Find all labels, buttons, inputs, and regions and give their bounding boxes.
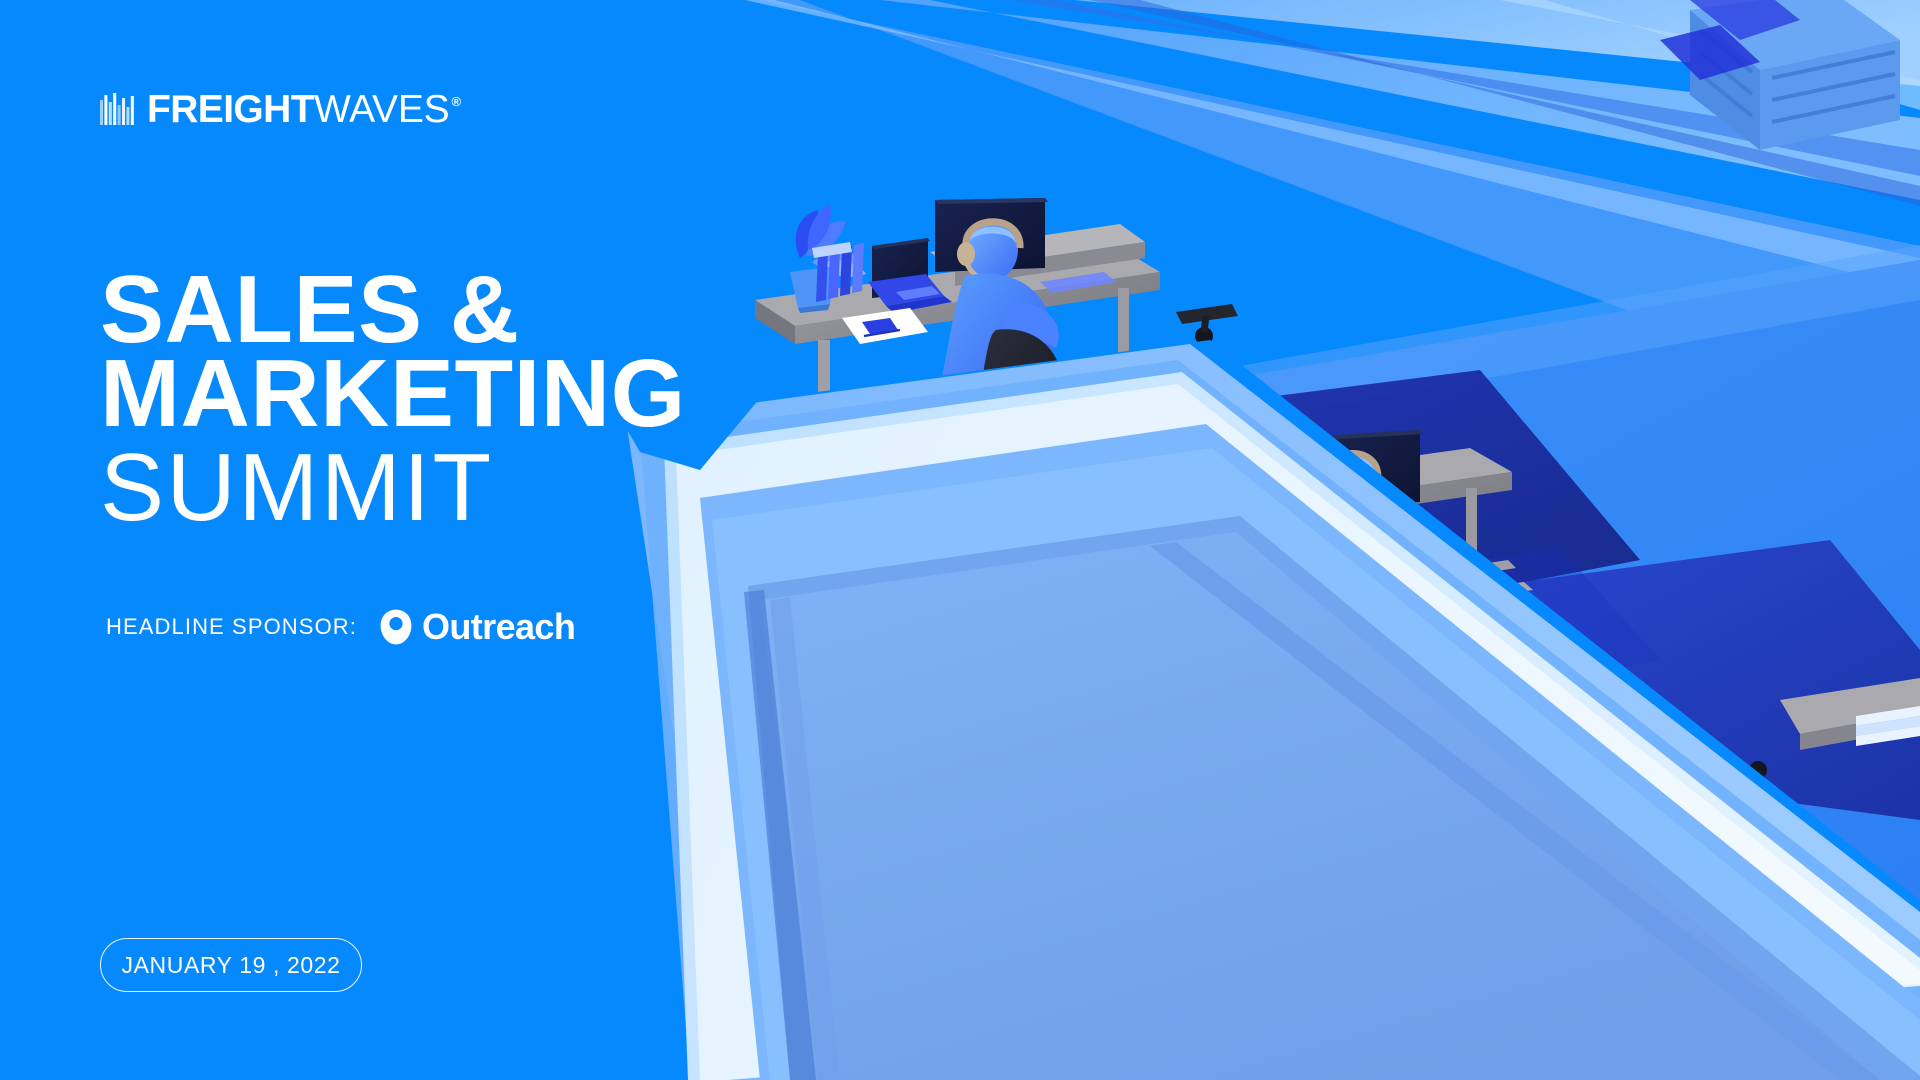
headline-line-1: SALES &	[100, 268, 686, 352]
office-chair-distant	[1176, 304, 1238, 345]
monitor-lower-large	[1192, 418, 1315, 527]
paper-stack	[1856, 706, 1920, 746]
outreach-logo[interactable]: Outreach	[379, 608, 575, 646]
desk-lower	[1100, 448, 1660, 730]
ceiling-beams	[745, 0, 1920, 420]
logo-text-bold: FREIGHT	[147, 90, 314, 129]
keyboard-upper	[1040, 272, 1116, 293]
desk-far-right	[1749, 678, 1920, 779]
event-banner: FREIGHTWAVES® SALES & MARKETING SUMMIT H…	[0, 0, 1920, 1080]
headline-line-3: SUMMIT	[100, 439, 686, 537]
event-date-text: JANUARY 19 , 2022	[121, 952, 340, 979]
monitor-lower-small	[1322, 430, 1423, 510]
logo-text-light: WAVES	[314, 90, 450, 129]
event-date-badge[interactable]: JANUARY 19 , 2022	[100, 938, 362, 992]
logo-trademark: ®	[452, 94, 461, 109]
laptop-lower	[1258, 462, 1368, 511]
office-chair-lower	[1285, 557, 1424, 769]
headline-line-2: MARKETING	[100, 352, 686, 436]
monitor-upper-large	[935, 198, 1048, 290]
banner-content: FREIGHTWAVES® SALES & MARKETING SUMMIT H…	[100, 0, 920, 1080]
outreach-pin-icon	[379, 608, 413, 646]
headline-sponsor: HEADLINE SPONSOR: Outreach	[106, 608, 575, 646]
office-chair-upper	[923, 329, 1064, 541]
coffee-cup	[1206, 527, 1242, 569]
pen-cup	[1138, 452, 1182, 529]
worker-lower-with-headset	[1241, 451, 1419, 738]
sponsor-label: HEADLINE SPONSOR:	[106, 614, 357, 640]
air-vent	[1660, 0, 1900, 150]
keyboard-lower	[1330, 492, 1412, 513]
freightwaves-logo[interactable]: FREIGHTWAVES®	[100, 88, 461, 130]
sponsor-name: Outreach	[422, 609, 575, 645]
page-title: SALES & MARKETING SUMMIT	[100, 268, 686, 537]
freightwaves-bars-icon	[100, 93, 134, 125]
